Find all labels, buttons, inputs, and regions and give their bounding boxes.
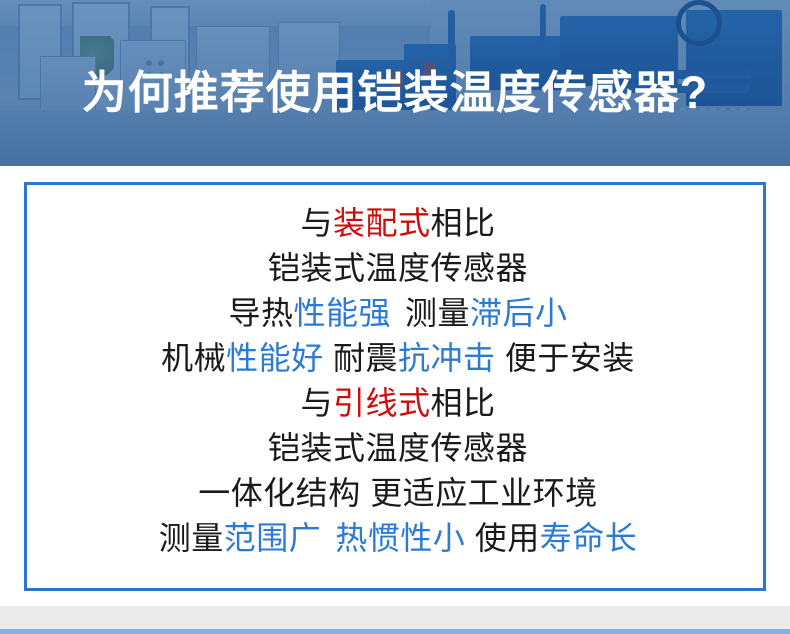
feature-text-segment: 机械 [161,340,226,376]
hero-banner: 为何推荐使用铠装温度传感器? [0,0,790,166]
feature-text-segment: 与 [300,205,333,241]
feature-text-segment: 相比 [431,385,496,421]
feature-text-segment: 滞后小 [470,295,568,331]
feature-line: 测量范围广热惯性小 使用寿命长 [27,516,769,561]
feature-text-segment: 抗冲击 [398,340,496,376]
feature-text-segment: 便于安装 [496,340,635,376]
feature-text-segment: 性能好 [226,340,324,376]
feature-text-segment: 性能强 [293,295,391,331]
feature-text-segment: 与 [300,385,333,421]
product-detail-page: 为何推荐使用铠装温度传感器? 与装配式相比铠装式温度传感器导热性能强测量滞后小机… [0,0,790,634]
feature-line: 导热性能强测量滞后小 [27,291,769,336]
feature-text-segment: 相比 [431,205,496,241]
feature-text-segment: 测量 [405,295,470,331]
feature-line: 与装配式相比 [27,201,769,246]
feature-line: 机械性能好 耐震抗冲击 便于安装 [27,336,769,381]
feature-text-block: 与装配式相比铠装式温度传感器导热性能强测量滞后小机械性能好 耐震抗冲击 便于安装… [27,201,769,561]
feature-text-segment: 使用 [465,520,539,556]
feature-text-segment: 耐震 [324,340,398,376]
footer-gray-band [0,606,790,631]
footer-blue-band [0,629,790,634]
page-title: 为何推荐使用铠装温度传感器? [0,70,790,115]
feature-text-segment: 铠装式温度传感器 [268,250,528,286]
feature-line: 与引线式相比 [27,381,769,426]
content-card: 与装配式相比铠装式温度传感器导热性能强测量滞后小机械性能好 耐震抗冲击 便于安装… [0,166,775,606]
feature-text-segment: 装配式 [333,205,431,241]
feature-text-segment: 范围广 [224,520,322,556]
feature-text-segment: 引线式 [333,385,431,421]
feature-text-segment: 热惯性小 [335,520,465,556]
feature-text-segment: 一体化结构 更适应工业环境 [198,475,597,511]
feature-line: 铠装式温度传感器 [27,426,769,471]
feature-text-segment: 寿命长 [540,520,638,556]
feature-text-segment: 测量 [159,520,224,556]
card-right-margin [775,166,790,606]
feature-line: 铠装式温度传感器 [27,246,769,291]
feature-text-segment: 导热 [228,295,293,331]
feature-text-segment: 铠装式温度传感器 [268,430,528,466]
feature-line: 一体化结构 更适应工业环境 [27,471,769,516]
content-frame-border: 与装配式相比铠装式温度传感器导热性能强测量滞后小机械性能好 耐震抗冲击 便于安装… [24,182,766,591]
